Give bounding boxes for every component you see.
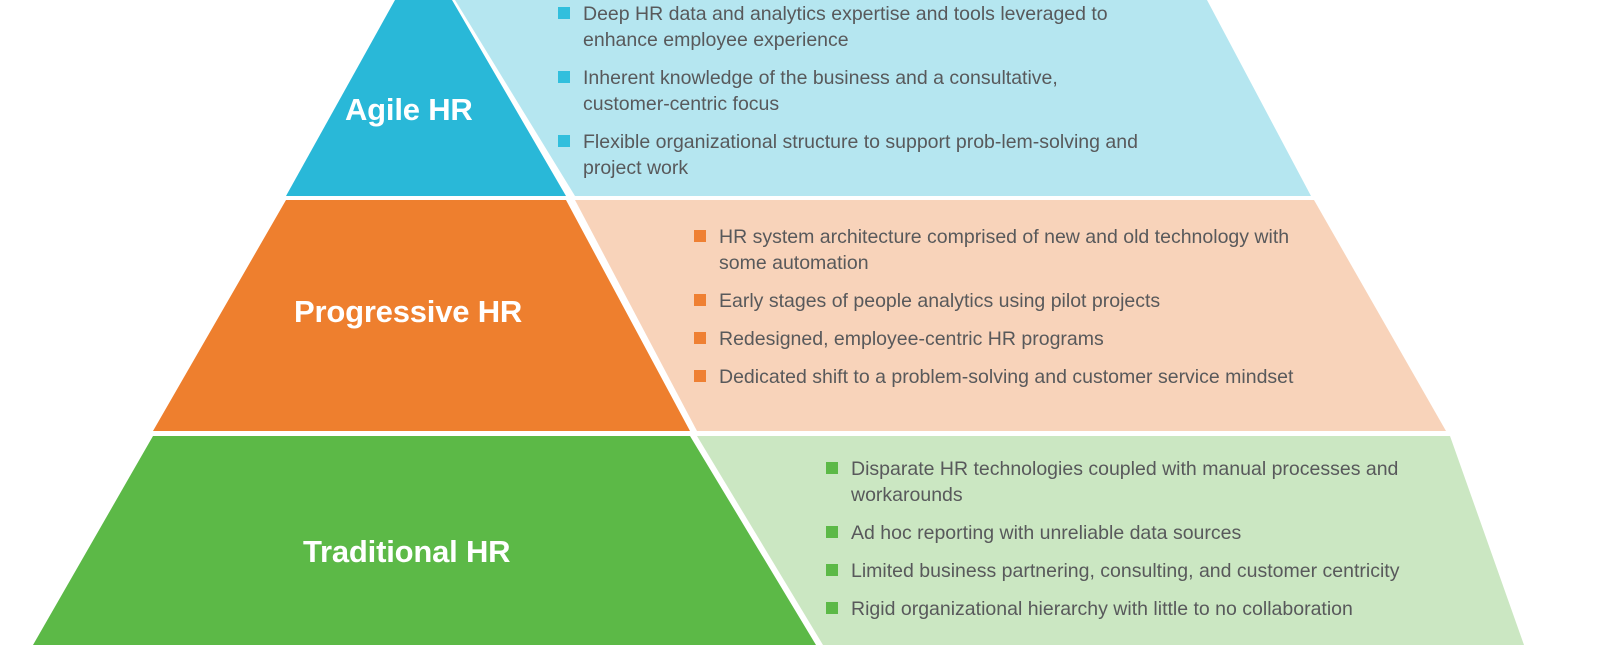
square-bullet-icon (826, 564, 838, 576)
square-bullet-icon (694, 230, 706, 242)
tier-label-progressive: Progressive HR (294, 294, 522, 330)
square-bullet-icon (694, 332, 706, 344)
square-bullet-icon (558, 7, 570, 19)
bullet-text: Deep HR data and analytics expertise and… (583, 1, 1148, 53)
list-item: Rigid organizational hierarchy with litt… (826, 596, 1476, 622)
square-bullet-icon (558, 71, 570, 83)
square-bullet-icon (826, 462, 838, 474)
bullet-text: Ad hoc reporting with unreliable data so… (851, 520, 1241, 546)
list-item: Limited business partnering, consulting,… (826, 558, 1476, 584)
square-bullet-icon (694, 294, 706, 306)
list-item: Ad hoc reporting with unreliable data so… (826, 520, 1476, 546)
list-item: Deep HR data and analytics expertise and… (558, 1, 1148, 53)
bullet-text: HR system architecture comprised of new … (719, 224, 1314, 276)
square-bullet-icon (826, 602, 838, 614)
agile-bullet-list: Deep HR data and analytics expertise and… (558, 1, 1148, 193)
bullet-text: Early stages of people analytics using p… (719, 288, 1160, 314)
list-item: Disparate HR technologies coupled with m… (826, 456, 1476, 508)
list-item: Dedicated shift to a problem-solving and… (694, 364, 1314, 390)
list-item: Flexible organizational structure to sup… (558, 129, 1148, 181)
square-bullet-icon (694, 370, 706, 382)
bullet-text: Inherent knowledge of the business and a… (583, 65, 1148, 117)
traditional-bullet-list: Disparate HR technologies coupled with m… (826, 456, 1476, 634)
bullet-text: Rigid organizational hierarchy with litt… (851, 596, 1353, 622)
bullet-text: Limited business partnering, consulting,… (851, 558, 1399, 584)
square-bullet-icon (826, 526, 838, 538)
bullet-text: Disparate HR technologies coupled with m… (851, 456, 1476, 508)
tier-label-agile: Agile HR (345, 92, 473, 128)
list-item: HR system architecture comprised of new … (694, 224, 1314, 276)
list-item: Early stages of people analytics using p… (694, 288, 1314, 314)
hr-maturity-pyramid-diagram: Agile HR Progressive HR Traditional HR D… (0, 0, 1600, 645)
list-item: Redesigned, employee-centric HR programs (694, 326, 1314, 352)
bullet-text: Redesigned, employee-centric HR programs (719, 326, 1104, 352)
square-bullet-icon (558, 135, 570, 147)
bullet-text: Flexible organizational structure to sup… (583, 129, 1148, 181)
bullet-text: Dedicated shift to a problem-solving and… (719, 364, 1293, 390)
list-item: Inherent knowledge of the business and a… (558, 65, 1148, 117)
progressive-bullet-list: HR system architecture comprised of new … (694, 224, 1314, 402)
tier-label-traditional: Traditional HR (303, 534, 510, 570)
